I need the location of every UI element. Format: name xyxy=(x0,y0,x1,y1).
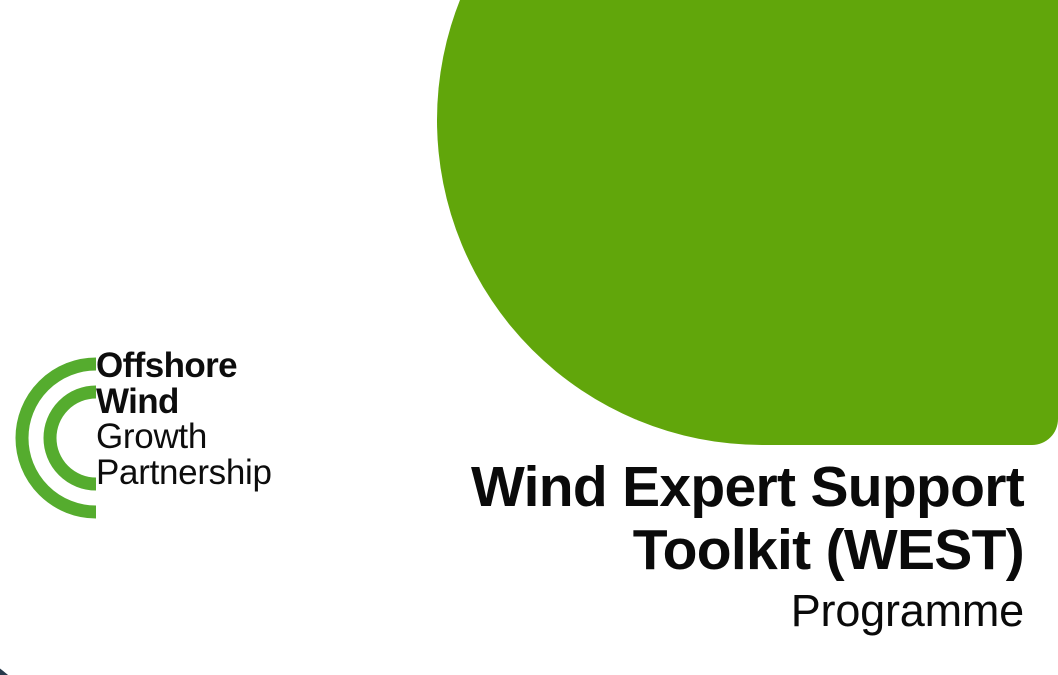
title-slide: Offshore Wind Growth Partnership Wind Ex… xyxy=(0,0,1058,675)
green-circle-shape-edge-fill xyxy=(762,0,1058,445)
slide-title-block: Wind Expert Support Toolkit (WEST) Progr… xyxy=(384,456,1024,638)
logo-line-offshore: Offshore xyxy=(96,348,340,384)
slide-title-line-2: Toolkit (WEST) xyxy=(384,519,1024,582)
slide-title-line-1: Wind Expert Support xyxy=(384,456,1024,519)
logo-line-partnership: Partnership xyxy=(96,455,340,491)
owgp-logo: Offshore Wind Growth Partnership xyxy=(0,352,340,527)
owgp-logo-wordmark: Offshore Wind Growth Partnership xyxy=(96,348,340,491)
navy-circle-shape xyxy=(0,621,90,675)
logo-line-growth: Growth xyxy=(96,419,340,455)
owgp-logo-mark-icon xyxy=(0,352,96,524)
slide-subtitle: Programme xyxy=(384,585,1024,637)
logo-line-wind: Wind xyxy=(96,384,340,420)
concentric-arcs-icon xyxy=(0,352,96,524)
